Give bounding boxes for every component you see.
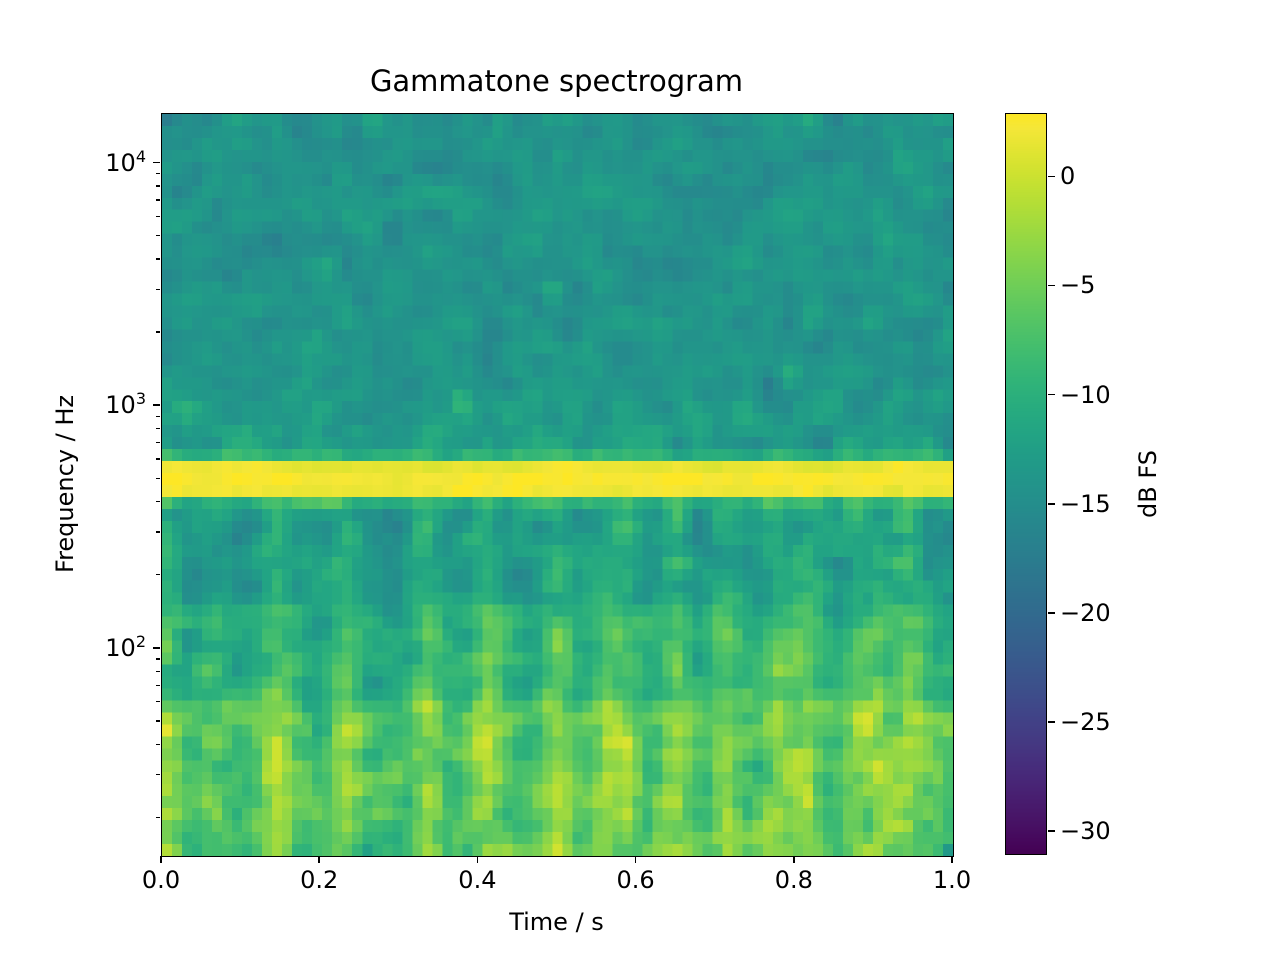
colorbar-tick (1048, 503, 1055, 505)
y-tick-major (153, 162, 160, 164)
y-tick-minor (156, 574, 160, 575)
colorbar (1005, 113, 1047, 855)
y-tick-minor (156, 658, 160, 659)
y-tick-minor (156, 720, 160, 721)
y-tick-minor (156, 531, 160, 532)
x-tick-major (951, 856, 953, 863)
x-tick-label: 0.4 (458, 866, 496, 894)
colorbar-gradient (1006, 114, 1046, 854)
y-tick-exponent: 4 (136, 147, 146, 166)
y-tick-minor (156, 199, 160, 200)
y-tick-minor (156, 817, 160, 818)
y-tick-minor (156, 458, 160, 459)
colorbar-tick-label: 0 (1060, 162, 1075, 190)
spectrogram-axes (161, 113, 954, 857)
y-tick-minor (156, 501, 160, 502)
y-tick-label: 104 (105, 149, 146, 177)
y-tick-minor (156, 258, 160, 259)
colorbar-tick-label: −25 (1060, 708, 1111, 736)
y-tick-minor (156, 428, 160, 429)
y-tick-minor (156, 289, 160, 290)
colorbar-tick-label: −10 (1060, 381, 1111, 409)
colorbar-tick-label: −30 (1060, 817, 1111, 845)
y-tick-minor (156, 416, 160, 417)
colorbar-tick (1048, 285, 1055, 287)
y-tick-exponent: 3 (136, 389, 146, 408)
y-tick-minor (156, 744, 160, 745)
colorbar-tick (1048, 176, 1055, 178)
y-axis-title-label: Frequency / Hz (51, 395, 79, 573)
y-tick-mantissa: 10 (105, 149, 136, 177)
colorbar-title-label: dB FS (1134, 450, 1162, 518)
y-tick-minor (156, 671, 160, 672)
y-tick-minor (156, 774, 160, 775)
x-tick-major (318, 856, 320, 863)
x-tick-label: 0.6 (617, 866, 655, 894)
colorbar-tick (1048, 612, 1055, 614)
y-tick-label: 103 (105, 391, 146, 419)
y-tick-minor (156, 185, 160, 186)
x-tick-label: 0.2 (300, 866, 338, 894)
x-tick-major (160, 856, 162, 863)
y-tick-minor (156, 701, 160, 702)
x-tick-label: 0.8 (775, 866, 813, 894)
y-tick-label: 102 (105, 634, 146, 662)
y-tick-major (153, 404, 160, 406)
y-tick-mantissa: 10 (105, 634, 136, 662)
colorbar-tick-label: −5 (1060, 271, 1095, 299)
y-tick-major (153, 647, 160, 649)
spectrogram-image (162, 114, 953, 856)
x-tick-label: 1.0 (933, 866, 971, 894)
page-title: Gammatone spectrogram (161, 64, 952, 98)
colorbar-tick (1048, 394, 1055, 396)
x-tick-major (477, 856, 479, 863)
y-tick-minor (156, 235, 160, 236)
y-tick-exponent: 2 (136, 632, 146, 651)
y-tick-minor (156, 442, 160, 443)
y-tick-minor (156, 478, 160, 479)
matplotlib-figure: Gammatone spectrogram 102103104 0.00.20.… (0, 0, 1280, 960)
colorbar-tick (1048, 830, 1055, 832)
y-tick-minor (156, 173, 160, 174)
y-tick-minor (156, 216, 160, 217)
y-tick-minor (156, 685, 160, 686)
colorbar-tick-label: −15 (1060, 490, 1111, 518)
x-tick-label: 0.0 (142, 866, 180, 894)
y-tick-mantissa: 10 (105, 391, 136, 419)
colorbar-tick (1048, 721, 1055, 723)
y-tick-minor (156, 331, 160, 332)
x-tick-major (635, 856, 637, 863)
x-tick-major (793, 856, 795, 863)
colorbar-tick-label: −20 (1060, 599, 1111, 627)
x-axis-title: Time / s (161, 908, 952, 936)
